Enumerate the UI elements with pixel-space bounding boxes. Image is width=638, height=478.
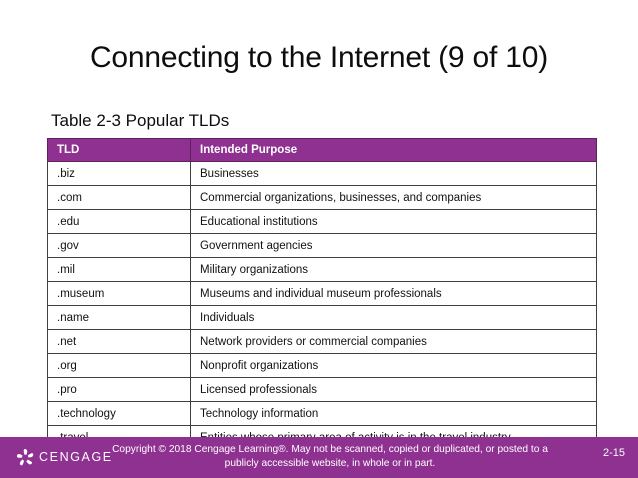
- cell-tld: .mil: [48, 258, 191, 282]
- cell-purpose: Technology information: [191, 402, 597, 426]
- cell-purpose: Nonprofit organizations: [191, 354, 597, 378]
- tlds-table: TLD Intended Purpose .biz Businesses .co…: [47, 138, 597, 450]
- footer-bar: CENGAGE Copyright © 2018 Cengage Learnin…: [0, 437, 638, 478]
- table-row: .name Individuals: [48, 306, 597, 330]
- cell-purpose: Military organizations: [191, 258, 597, 282]
- table-row: .net Network providers or commercial com…: [48, 330, 597, 354]
- column-header-intended-purpose: Intended Purpose: [191, 139, 597, 162]
- table-row: .com Commercial organizations, businesse…: [48, 186, 597, 210]
- cell-tld: .org: [48, 354, 191, 378]
- table-header-row: TLD Intended Purpose: [48, 139, 597, 162]
- cengage-pinwheel-icon: [16, 448, 35, 467]
- cell-tld: .edu: [48, 210, 191, 234]
- cell-purpose: Commercial organizations, businesses, an…: [191, 186, 597, 210]
- cell-tld: .pro: [48, 378, 191, 402]
- table-row: .biz Businesses: [48, 162, 597, 186]
- cell-purpose: Licensed professionals: [191, 378, 597, 402]
- cell-purpose: Individuals: [191, 306, 597, 330]
- column-header-tld: TLD: [48, 139, 191, 162]
- cell-purpose: Businesses: [191, 162, 597, 186]
- page-number: 2-15: [603, 446, 625, 460]
- table-row: .gov Government agencies: [48, 234, 597, 258]
- table-row: .technology Technology information: [48, 402, 597, 426]
- page-title: Connecting to the Internet (9 of 10): [0, 40, 638, 76]
- table-row: .museum Museums and individual museum pr…: [48, 282, 597, 306]
- cell-tld: .technology: [48, 402, 191, 426]
- cengage-wordmark: CENGAGE: [39, 450, 113, 464]
- cell-tld: .com: [48, 186, 191, 210]
- table-row: .mil Military organizations: [48, 258, 597, 282]
- table-body: .biz Businesses .com Commercial organiza…: [48, 162, 597, 450]
- cell-purpose: Government agencies: [191, 234, 597, 258]
- table-row: .pro Licensed professionals: [48, 378, 597, 402]
- cell-tld: .net: [48, 330, 191, 354]
- table-row: .edu Educational institutions: [48, 210, 597, 234]
- cell-tld: .name: [48, 306, 191, 330]
- cell-purpose: Network providers or commercial companie…: [191, 330, 597, 354]
- cell-purpose: Museums and individual museum profession…: [191, 282, 597, 306]
- copyright-notice: Copyright © 2018 Cengage Learning®. May …: [110, 443, 550, 470]
- cell-purpose: Educational institutions: [191, 210, 597, 234]
- table-caption: Table 2-3 Popular TLDs: [51, 110, 229, 131]
- cengage-logo: CENGAGE: [16, 446, 113, 468]
- slide: Connecting to the Internet (9 of 10) Tab…: [0, 0, 638, 478]
- cell-tld: .gov: [48, 234, 191, 258]
- cell-tld: .museum: [48, 282, 191, 306]
- copyright-line-1: Copyright © 2018 Cengage Learning®. May …: [112, 444, 528, 455]
- cell-tld: .biz: [48, 162, 191, 186]
- table-row: .org Nonprofit organizations: [48, 354, 597, 378]
